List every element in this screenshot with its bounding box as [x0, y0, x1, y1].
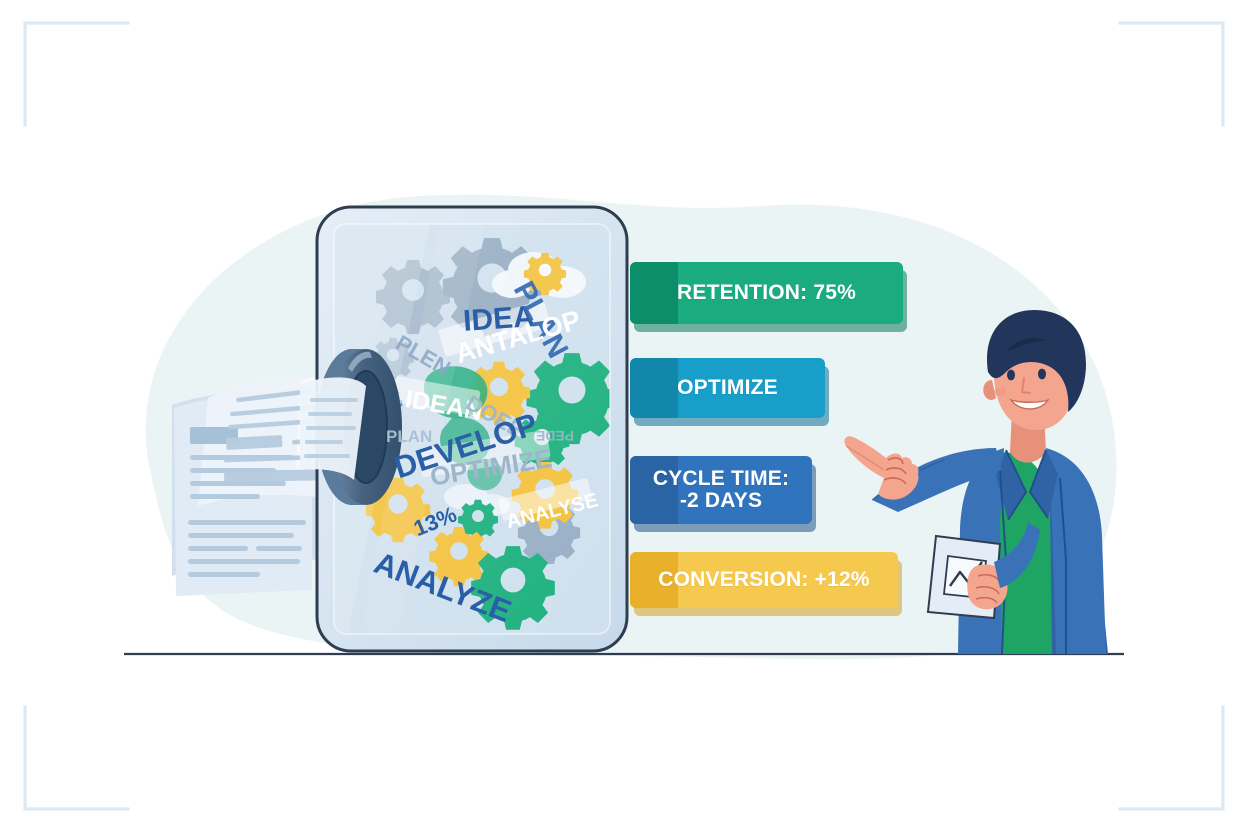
bar-cycle-time[interactable] [630, 456, 816, 532]
word-cloud-item: ANALYSE [504, 489, 601, 534]
word-cloud-clip: IDEAPLANPLENANTALOPIDEANDOEEPLANDEVELOPO… [334, 224, 610, 634]
illustration-svg [0, 0, 1248, 832]
illustration-canvas: IDEAPLANPLENANTALOPIDEANDOEEPLANDEVELOPO… [0, 0, 1248, 832]
word-cloud-item: 13% [410, 501, 461, 542]
bar-optimize[interactable] [630, 358, 829, 426]
word-cloud-item: PLEN [391, 330, 455, 382]
word-cloud-item: PEDE [536, 428, 574, 444]
bar-retention[interactable] [630, 262, 907, 332]
bar-conversion[interactable] [630, 552, 902, 616]
word-cloud-item: ANALYZE [369, 545, 516, 630]
